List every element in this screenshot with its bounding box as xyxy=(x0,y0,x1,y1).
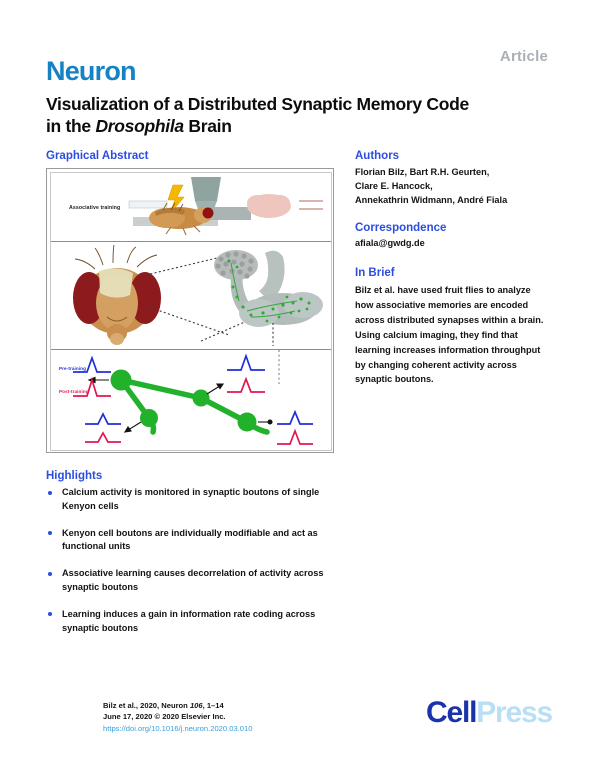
list-item: Learning induces a gain in information r… xyxy=(46,608,346,636)
trace-label-pre: Pre-training xyxy=(59,366,86,371)
in-brief-heading: In Brief xyxy=(355,267,555,279)
title-species-name: Drosophila xyxy=(95,116,183,136)
title-line-1: Visualization of a Distributed Synaptic … xyxy=(46,94,469,114)
article-type-tag: Article xyxy=(500,48,548,65)
panel-fly-head-mushroom-body xyxy=(51,243,332,348)
highlights-list: Calcium activity is monitored in synapti… xyxy=(46,486,346,648)
authors-list: Florian Bilz, Bart R.H. Geurten, Clare E… xyxy=(355,166,555,208)
doi-link[interactable]: https://doi.org/10.1016/j.neuron.2020.03… xyxy=(103,724,252,733)
trace-group-bottom-left xyxy=(85,414,121,442)
bullet-icon xyxy=(48,612,52,616)
in-brief-text: Bilz et al. have used fruit flies to ana… xyxy=(355,283,551,387)
graphical-abstract-heading: Graphical Abstract xyxy=(46,150,148,162)
authors-line-2: Clare E. Hancock, xyxy=(355,181,433,191)
citation-date: June 17, 2020 © 2020 Elsevier Inc. xyxy=(103,712,226,721)
correspondence-heading: Correspondence xyxy=(355,222,555,234)
bouton-3 xyxy=(140,409,158,427)
cellpress-logo-cell: Cell xyxy=(426,696,476,729)
authors-heading: Authors xyxy=(355,150,555,162)
title-line-2-suffix: Brain xyxy=(184,116,232,136)
citation-authors: Bilz et al., 2020, Neuron xyxy=(103,701,190,710)
associative-training-label: Associative training xyxy=(69,205,120,211)
trace-group-bottom-right xyxy=(277,412,313,444)
highlight-text: Associative learning causes decorrelatio… xyxy=(62,568,323,592)
footer-citation: Bilz et al., 2020, Neuron 106, 1–14 June… xyxy=(103,700,252,734)
cellpress-logo-press: Press xyxy=(476,696,552,729)
trace-label-post: Post-training xyxy=(59,389,89,394)
list-item: Calcium activity is monitored in synapti… xyxy=(46,486,346,514)
highlight-text: Kenyon cell boutons are individually mod… xyxy=(62,528,318,552)
bullet-icon xyxy=(48,491,52,495)
bullet-icon xyxy=(48,572,52,576)
panel-boutons-traces xyxy=(51,350,332,451)
list-item: Associative learning causes decorrelatio… xyxy=(46,567,346,595)
highlight-text: Learning induces a gain in information r… xyxy=(62,609,315,633)
bouton-2 xyxy=(193,390,210,407)
citation-volume: 106 xyxy=(190,701,203,710)
authors-line-1: Florian Bilz, Bart R.H. Geurten, xyxy=(355,167,489,177)
highlight-text: Calcium activity is monitored in synapti… xyxy=(62,487,319,511)
page-title: Visualization of a Distributed Synaptic … xyxy=(46,93,556,138)
bouton-4 xyxy=(238,413,257,432)
graphical-abstract-inner-frame: Associative training xyxy=(50,172,332,451)
highlights-heading: Highlights xyxy=(46,470,102,482)
cellpress-logo: CellPress xyxy=(426,696,552,730)
graphical-abstract-figure: Associative training xyxy=(46,168,334,453)
correspondence-email[interactable]: afiala@gwdg.de xyxy=(355,238,555,248)
citation-pages: , 1–14 xyxy=(203,701,224,710)
bullet-icon xyxy=(48,531,52,535)
title-line-2-prefix: in the xyxy=(46,116,95,136)
authors-line-3: Annekathrin Widmann, André Fiala xyxy=(355,195,507,205)
list-item: Kenyon cell boutons are individually mod… xyxy=(46,527,346,555)
panel-divider-top xyxy=(51,241,331,242)
bouton-1 xyxy=(111,370,132,391)
journal-logo: Neuron xyxy=(46,56,136,87)
trace-group-top-right xyxy=(227,356,265,392)
